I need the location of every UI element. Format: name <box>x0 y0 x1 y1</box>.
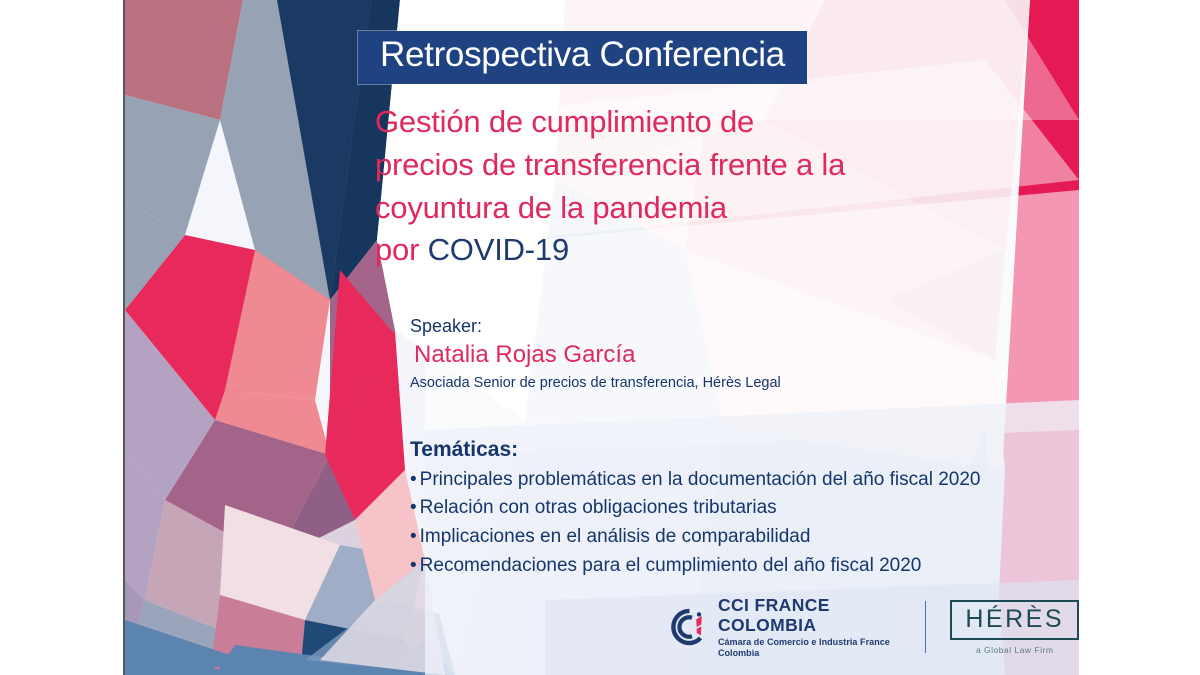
cci-logo-subtitle: Cámara de Comercio e Industria France Co… <box>718 637 901 659</box>
heres-logo-word: HÉRÈS <box>965 607 1064 632</box>
cci-monogram-icon <box>670 604 709 650</box>
headline-covid-highlight: COVID-19 <box>428 232 569 267</box>
headline-line-4: por COVID-19 <box>375 229 905 272</box>
bullet-icon: • <box>410 526 417 547</box>
bullet-icon: • <box>410 469 417 490</box>
bullet-icon: • <box>410 555 417 576</box>
heres-logo-tagline: a Global Law Firm <box>976 645 1053 655</box>
logo-row: CCI FRANCE COLOMBIA Cámara de Comercio e… <box>670 596 1079 659</box>
headline-line-4-prefix: por <box>375 232 428 267</box>
topics-title: Temáticas: <box>410 434 1050 466</box>
screenshot-root: Retrospectiva Conferencia Gestión de cum… <box>0 0 1200 675</box>
cci-france-colombia-logo: CCI FRANCE COLOMBIA Cámara de Comercio e… <box>670 596 901 659</box>
heres-logo-frame: HÉRÈS <box>950 600 1079 640</box>
slide-title-banner: Retrospectiva Conferencia <box>358 31 807 84</box>
logo-divider <box>925 601 927 653</box>
topic-item-label: Implicaciones en el análisis de comparab… <box>420 526 811 547</box>
topic-item: •Implicaciones en el análisis de compara… <box>410 523 1050 552</box>
headline-line-2: precios de transferencia frente a la <box>375 144 905 187</box>
topics-block: Temáticas: •Principales problemáticas en… <box>410 434 1050 581</box>
topic-item-label: Recomendaciones para el cumplimiento del… <box>420 555 922 576</box>
topic-item: •Principales problemáticas en la documen… <box>410 466 1050 495</box>
slide-title: Retrospectiva Conferencia <box>380 37 785 74</box>
speaker-block: Speaker: Natalia Rojas García Asociada S… <box>410 315 880 393</box>
presentation-slide: Retrospectiva Conferencia Gestión de cum… <box>123 0 1079 675</box>
speaker-label: Speaker: <box>410 315 880 338</box>
topic-item-label: Relación con otras obligaciones tributar… <box>420 497 777 518</box>
headline-line-1: Gestión de cumplimiento de <box>375 101 905 144</box>
topic-item: •Relación con otras obligaciones tributa… <box>410 494 1050 523</box>
headline: Gestión de cumplimiento de precios de tr… <box>375 101 905 272</box>
speaker-role: Asociada Senior de precios de transferen… <box>410 373 880 393</box>
topic-item: •Recomendaciones para el cumplimiento de… <box>410 552 1050 581</box>
cci-logo-title: CCI FRANCE COLOMBIA <box>718 596 901 635</box>
heres-logo: HÉRÈS a Global Law Firm <box>950 600 1079 655</box>
speaker-name: Natalia Rojas García <box>410 338 880 373</box>
bullet-icon: • <box>410 497 417 518</box>
headline-line-3: coyuntura de la pandemia <box>375 187 905 230</box>
topic-item-label: Principales problemáticas en la document… <box>420 469 981 490</box>
